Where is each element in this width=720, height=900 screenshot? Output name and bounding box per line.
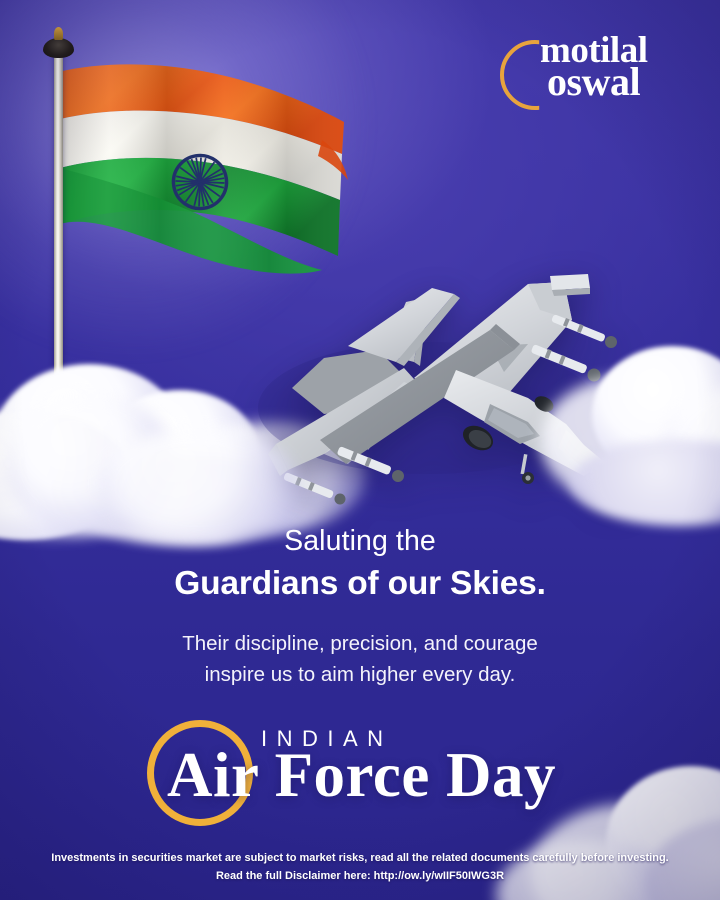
- logo-line-oswal: oswal: [547, 64, 705, 101]
- occasion-title: Air Force Day: [167, 744, 556, 807]
- headline-line-2: Guardians of our Skies.: [0, 564, 720, 604]
- disclaimer-line-1: Investments in securities market are sub…: [51, 852, 668, 864]
- headline-line-1: Saluting the: [0, 524, 720, 559]
- disclaimer-line-2[interactable]: Read the full Disclaimer here: http://ow…: [14, 868, 706, 886]
- subheadline-line-1: Their discipline, precision, and courage: [0, 628, 720, 659]
- headline-block: Saluting the Guardians of our Skies. The…: [0, 524, 720, 690]
- disclaimer: Investments in securities market are sub…: [0, 850, 720, 886]
- subheadline-line-2: inspire us to aim higher every day.: [0, 659, 720, 690]
- occasion-title-block: INDIAN Air Force Day: [0, 706, 720, 846]
- motilal-oswal-logo[interactable]: motilal oswal: [492, 34, 702, 116]
- logo-wordmark: motilal oswal: [540, 34, 705, 101]
- air-force-day-poster: motilal oswal Saluting the Guardians of …: [0, 0, 720, 900]
